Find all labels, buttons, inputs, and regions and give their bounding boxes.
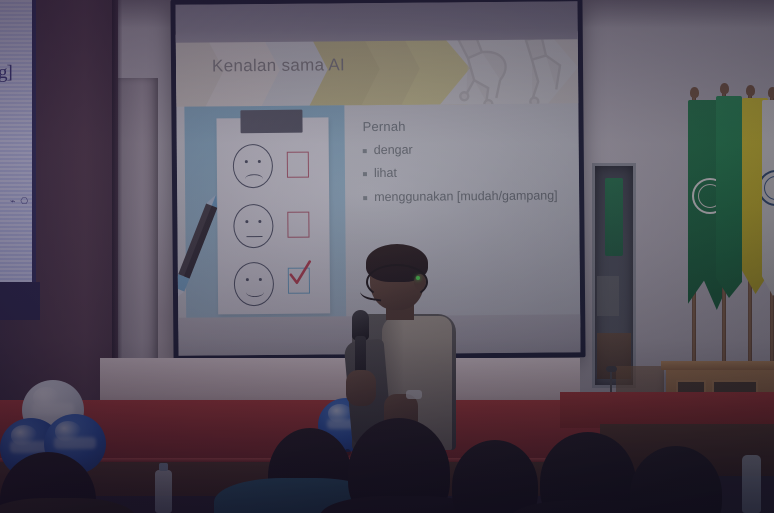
bullet-marker-icon [363,172,367,176]
audience-shoulders [0,498,136,513]
secondary-display[interactable]: g] ⌁⎔ [0,0,36,282]
slide-bullet-list: Pernah dengar lihat menggunakan [mudah/g… [362,117,563,213]
flag-inside-door [605,178,623,256]
flag-green-2 [716,96,742,298]
screen-top-shadow [175,1,577,43]
slide-image-panel [184,105,346,320]
pole-finial-icon [746,85,755,96]
doorway[interactable] [592,163,636,388]
water-bottle-2 [742,455,761,513]
bullet-heading: Pernah [362,117,562,134]
checkbox-unchecked[interactable] [287,212,309,238]
checkmark-icon [285,259,315,289]
bullet-text: dengar [374,143,413,158]
bullet-item: menggunakan [mudah/gampang] [363,188,563,204]
microphone-head-icon [606,366,617,372]
checkbox-checked[interactable] [288,268,310,294]
podium-top [661,361,774,370]
pole-finial-icon [768,87,774,98]
secondary-display-text: g] [0,62,12,84]
bullet-item: lihat [363,165,563,181]
display-toolbar-icons: ⌁⎔ [10,196,40,210]
clipboard-clip-icon [240,110,302,134]
bullet-marker-icon [363,196,367,200]
bullet-text: menggunakan [mudah/gampang] [374,188,558,204]
bullet-text: lihat [374,166,397,181]
flag-white [762,100,774,296]
secondary-display-base [0,282,40,320]
slide-header-band: Kenalan sama AI [176,31,579,107]
sad-face-icon [233,144,273,188]
stage-carpet-right [560,392,774,428]
table-microphone [610,370,612,392]
door-inner-panel [597,276,619,316]
neutral-face-icon [233,204,273,248]
pole-finial-icon [690,87,699,98]
display-scanlines [0,0,32,282]
presentation-photo-scene: g] ⌁⎔ [0,0,774,513]
presenter-hand-left [346,370,376,406]
presenter-wristwatch [406,390,422,399]
bottle-cap [159,463,168,471]
checkbox-unchecked[interactable] [287,152,309,178]
bullet-marker-icon [363,149,367,153]
bullet-item: dengar [363,141,563,157]
pole-finial-icon [720,83,729,94]
robot-legs-illustration [442,31,575,106]
happy-face-icon [234,262,274,306]
headset-power-led [416,276,420,280]
headset-boom-icon [359,287,382,302]
water-bottle [155,470,172,513]
clipboard [216,117,330,314]
slide-title: Kenalan sama AI [212,55,345,76]
